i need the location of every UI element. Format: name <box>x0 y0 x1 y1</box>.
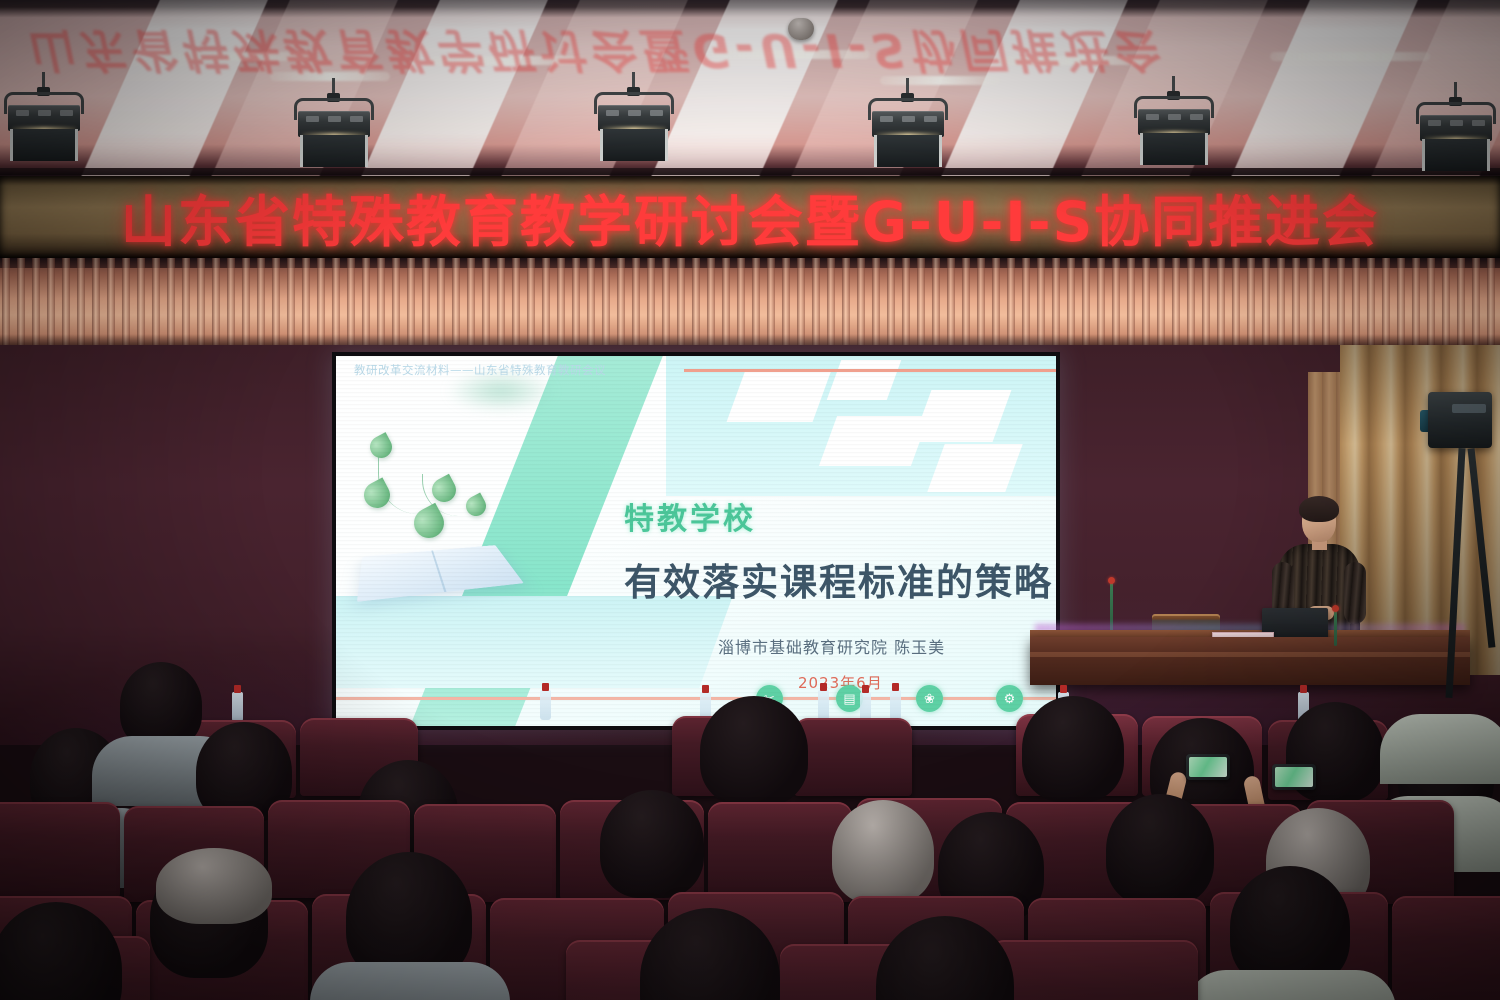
stage-light-fixture <box>1128 76 1220 150</box>
slide-header-rule <box>684 369 1056 372</box>
attendee-head <box>600 790 704 898</box>
water-bottle <box>818 690 829 720</box>
auditorium-seat <box>990 940 1198 1000</box>
attendee-shoulders <box>1380 714 1500 784</box>
stage-light-fixture <box>288 78 380 152</box>
stage-light-fixture <box>862 78 954 152</box>
video-camera <box>1428 392 1492 448</box>
microphone-right-head <box>1332 605 1339 612</box>
attendee-head <box>156 848 272 924</box>
water-bottle <box>540 690 551 720</box>
attendee-head <box>700 696 808 806</box>
smartphone-recording[interactable] <box>1272 764 1316 790</box>
stage-light-fixture <box>588 72 680 146</box>
microphone-left-head <box>1108 577 1115 584</box>
slide-subtitle: 特教学校 <box>624 494 756 538</box>
ceiling: 山东省特殊教育教学研讨会暨G-U-I-S协同推进会 <box>0 0 1500 176</box>
stage-light-fixture <box>0 72 90 146</box>
auditorium-seat <box>0 802 120 898</box>
phone-screen <box>1189 757 1227 777</box>
stage-light-fixture <box>1410 82 1500 156</box>
attendee-head <box>832 800 934 904</box>
camera-handle <box>1452 404 1486 413</box>
smartphone-recording[interactable] <box>1186 754 1230 780</box>
led-banner-text: 山东省特殊教育教学研讨会暨G-U-I-S协同推进会 <box>0 177 1500 257</box>
conference-hall-photo: 山东省特殊教育教学研讨会暨G-U-I-S协同推进会 山东省特殊教育教学研讨会暨G… <box>0 0 1500 1000</box>
auditorium-seat <box>708 802 852 902</box>
auditorium-seat <box>794 718 912 796</box>
curtain-valance <box>0 258 1500 350</box>
leaf-icon <box>462 492 489 519</box>
slide-title: 有效落实课程标准的策略 <box>624 552 1053 606</box>
attendee-head <box>1022 696 1124 802</box>
smoke-detector-icon <box>788 18 814 40</box>
phone-screen <box>1275 767 1313 787</box>
attendee-shoulders <box>310 962 510 1000</box>
led-banner: 山东省特殊教育教学研讨会暨G-U-I-S协同推进会 <box>0 176 1500 258</box>
water-bottle <box>232 692 243 722</box>
slide-header-text: 教研改革交流材料——山东省特殊教育教研会议 <box>354 362 606 378</box>
attendee-head <box>1106 794 1214 906</box>
attendee-shoulders <box>1186 970 1396 1000</box>
auditorium-seat <box>1392 896 1500 1000</box>
water-bottle <box>890 690 901 720</box>
audience-area <box>0 640 1500 1000</box>
